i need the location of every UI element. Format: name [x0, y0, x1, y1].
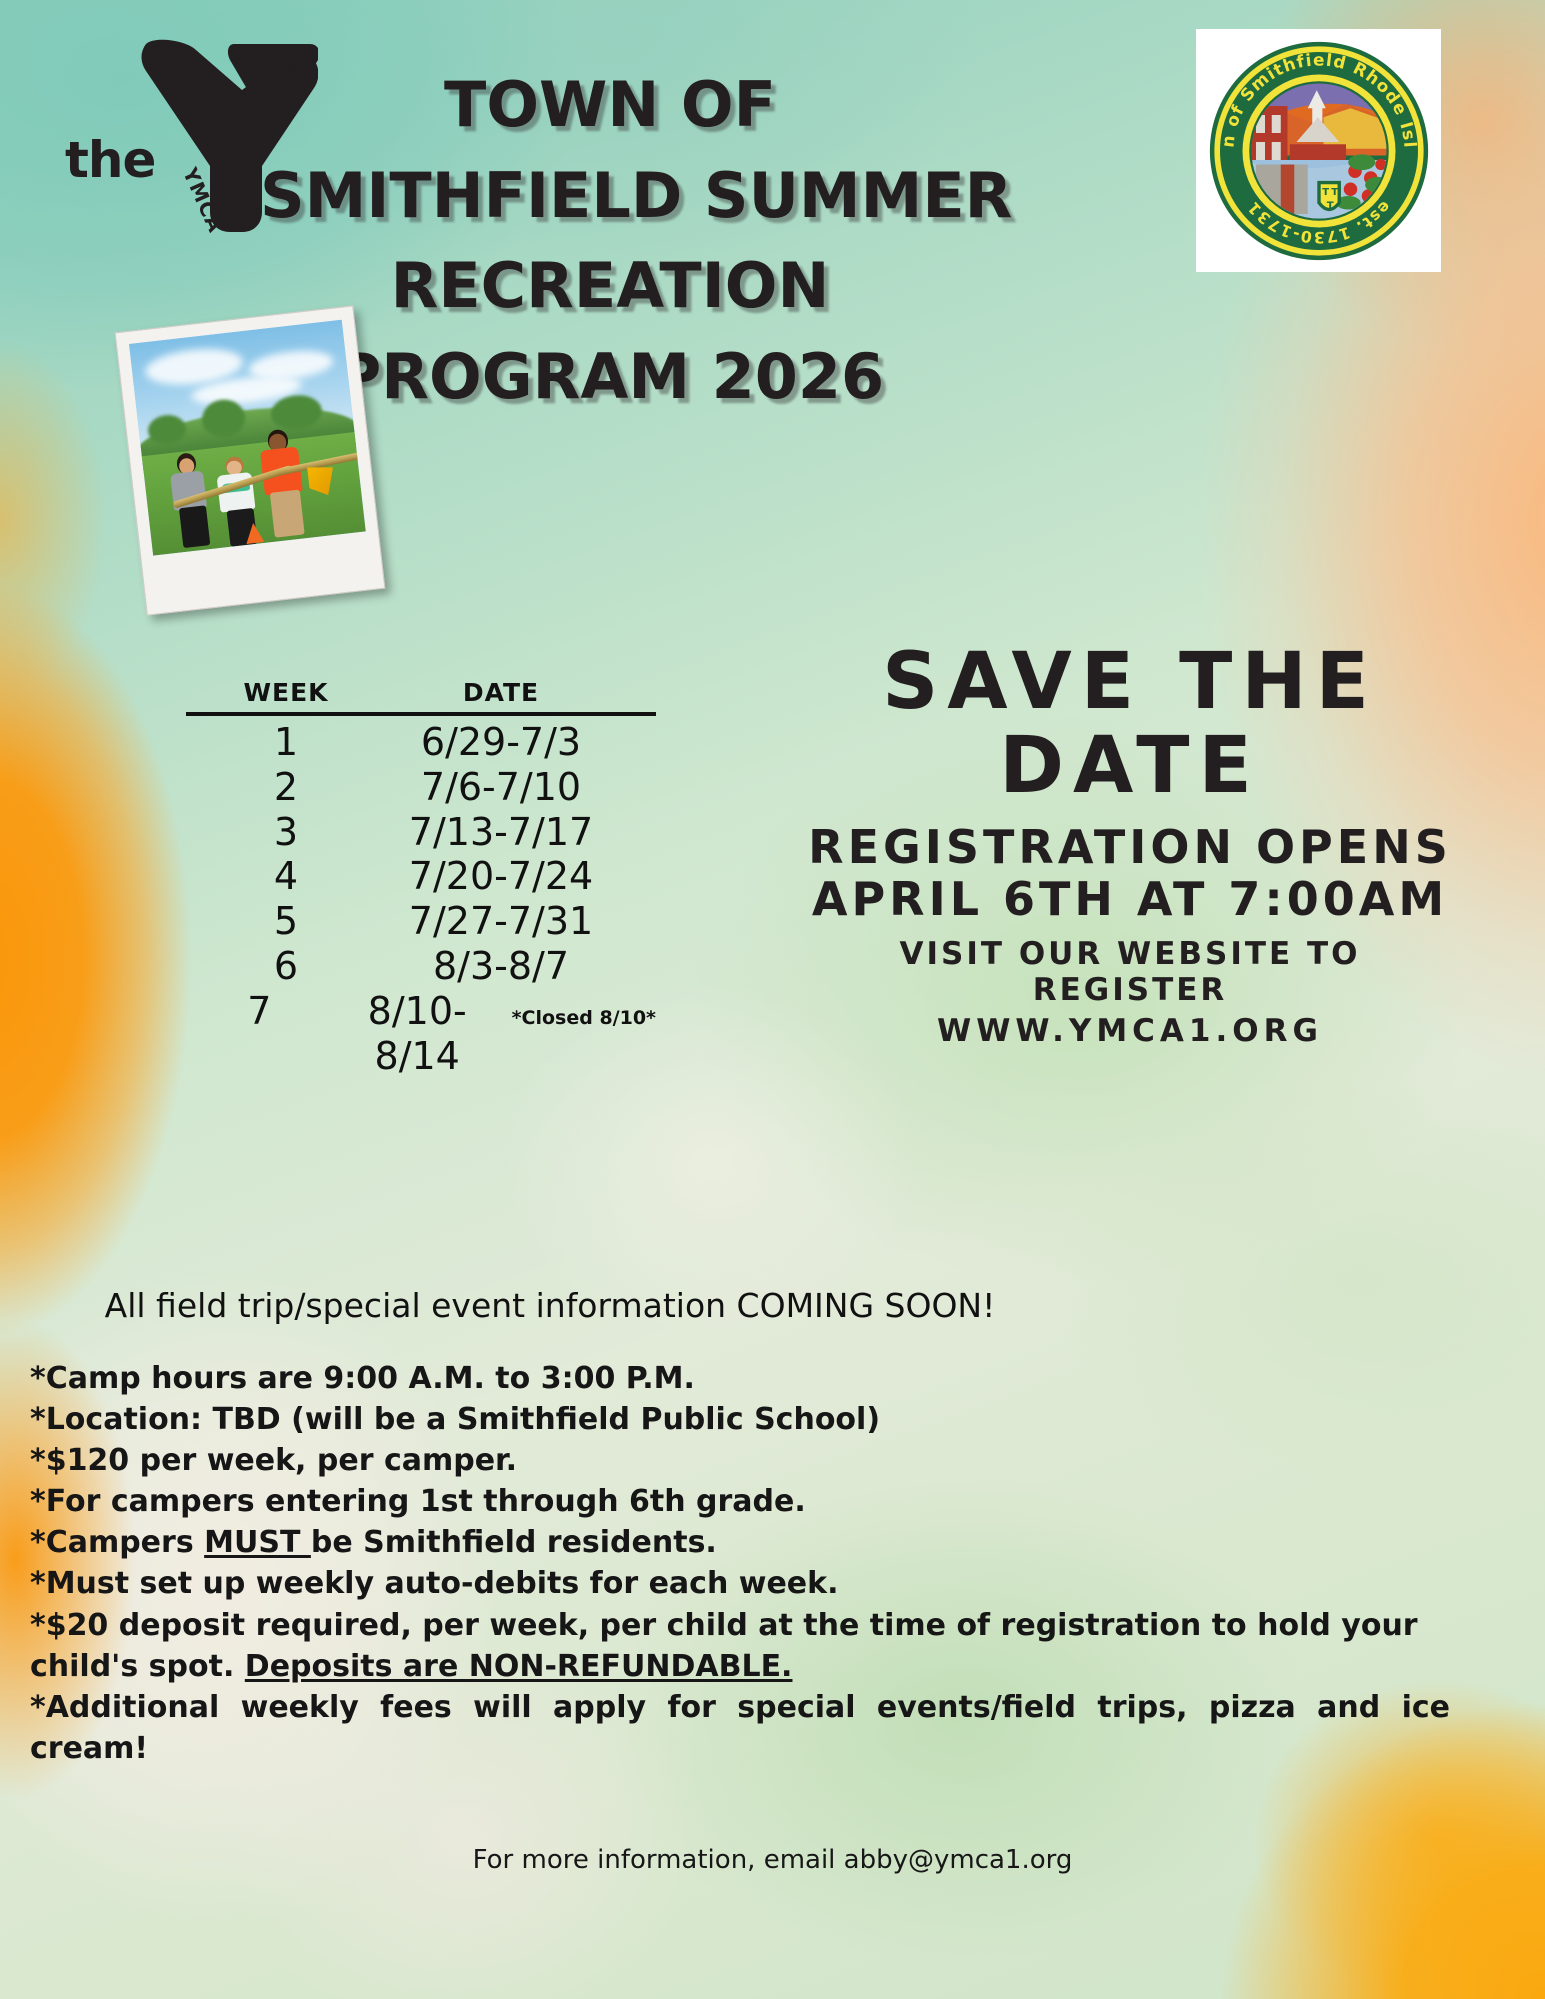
- website-url[interactable]: WWW.YMCA1.ORG: [760, 1013, 1500, 1049]
- table-row: 2 7/6-7/10: [186, 765, 656, 810]
- coming-soon-text: All field trip/special event information…: [0, 1286, 1100, 1325]
- visit-website-text: VISIT OUR WEBSITE TO REGISTER: [760, 936, 1500, 1009]
- save-the-date-line-1: SAVE THE: [760, 640, 1500, 724]
- residency-post: be Smithfield residents.: [311, 1525, 717, 1560]
- schedule-header-rule: [186, 712, 656, 716]
- table-row: 1 6/29-7/3: [186, 720, 656, 765]
- registration-datetime-line: APRIL 6TH AT 7:00AM: [760, 874, 1500, 926]
- details-list: *Camp hours are 9:00 A.M. to 3:00 P.M. *…: [30, 1358, 1450, 1769]
- detail-location: *Location: TBD (will be a Smithfield Pub…: [30, 1399, 1450, 1440]
- page-title: TOWN OF SMITHFIELD SUMMER RECREATION PRO…: [260, 60, 960, 422]
- cell-date: 7/6-7/10: [386, 765, 616, 810]
- title-line-2: SMITHFIELD SUMMER: [260, 151, 960, 242]
- detail-additional-fees: *Additional weekly fees will apply for s…: [30, 1687, 1450, 1769]
- detail-grades: *For campers entering 1st through 6th gr…: [30, 1481, 1450, 1522]
- cell-date: 6/29-7/3: [386, 720, 616, 765]
- registration-subtitle: REGISTRATION OPENS APRIL 6TH AT 7:00AM: [760, 822, 1500, 925]
- table-row: 3 7/13-7/17: [186, 810, 656, 855]
- deposit-nonrefundable: Deposits are NON-REFUNDABLE.: [245, 1649, 793, 1684]
- visit-website-line-1: VISIT OUR WEBSITE TO: [760, 936, 1500, 973]
- svg-text:T: T: [1331, 186, 1338, 197]
- table-row: 6 8/3-8/7: [186, 944, 656, 989]
- registration-opens-line: REGISTRATION OPENS: [760, 822, 1500, 874]
- table-row: 5 7/27-7/31: [186, 899, 656, 944]
- detail-price: *$120 per week, per camper.: [30, 1440, 1450, 1481]
- title-line-3: RECREATION: [260, 241, 960, 332]
- save-the-date-line-2: DATE: [760, 724, 1500, 808]
- visit-website-line-2: REGISTER: [760, 972, 1500, 1009]
- table-row: 4 7/20-7/24: [186, 854, 656, 899]
- residency-must: MUST: [204, 1525, 311, 1560]
- town-seal-icon: TTT Town of Smithfield Rhode Island est.…: [1206, 38, 1431, 263]
- cell-week: 7: [186, 989, 333, 1034]
- detail-auto-debits: *Must set up weekly auto-debits for each…: [30, 1563, 1450, 1604]
- table-row: 7 8/10-8/14 *Closed 8/10*: [186, 989, 656, 1079]
- detail-camp-hours: *Camp hours are 9:00 A.M. to 3:00 P.M.: [30, 1358, 1450, 1399]
- cell-date: 7/27-7/31: [386, 899, 616, 944]
- title-line-1: TOWN OF: [260, 60, 960, 151]
- residency-pre: *Campers: [30, 1525, 204, 1560]
- schedule-header-row: WEEK DATE: [186, 678, 656, 712]
- column-header-date: DATE: [386, 678, 616, 707]
- tug-of-war-photo: [129, 320, 366, 556]
- town-seal-card: TTT Town of Smithfield Rhode Island est.…: [1196, 29, 1441, 272]
- cell-week: 5: [186, 899, 386, 944]
- cell-date: 8/10-8/14: [333, 989, 502, 1079]
- schedule-table: WEEK DATE 1 6/29-7/3 2 7/6-7/10 3 7/13-7…: [186, 678, 656, 1079]
- cell-week: 1: [186, 720, 386, 765]
- column-header-week: WEEK: [186, 678, 386, 707]
- photo-cone: [244, 522, 264, 544]
- save-the-date-block: SAVE THE DATE REGISTRATION OPENS APRIL 6…: [760, 640, 1500, 1049]
- svg-text:T: T: [1326, 200, 1333, 211]
- detail-deposit: *$20 deposit required, per week, per chi…: [30, 1605, 1450, 1687]
- cell-date: 8/3-8/7: [386, 944, 616, 989]
- cell-date: 7/20-7/24: [386, 854, 616, 899]
- polaroid-photo: [115, 305, 386, 615]
- cell-week: 3: [186, 810, 386, 855]
- cell-date: 7/13-7/17: [386, 810, 616, 855]
- contact-footer[interactable]: For more information, email abby@ymca1.o…: [0, 1845, 1545, 1875]
- detail-residency: *Campers MUST be Smithfield residents.: [30, 1522, 1450, 1563]
- cell-week: 2: [186, 765, 386, 810]
- cell-week: 4: [186, 854, 386, 899]
- cell-week: 6: [186, 944, 386, 989]
- cell-note: *Closed 8/10*: [502, 1007, 656, 1029]
- save-the-date-title: SAVE THE DATE: [760, 640, 1500, 808]
- flyer-page: the ® YMCA: [0, 0, 1545, 1999]
- title-line-4: PROGRAM 2026: [260, 332, 960, 423]
- svg-text:T: T: [1322, 186, 1329, 197]
